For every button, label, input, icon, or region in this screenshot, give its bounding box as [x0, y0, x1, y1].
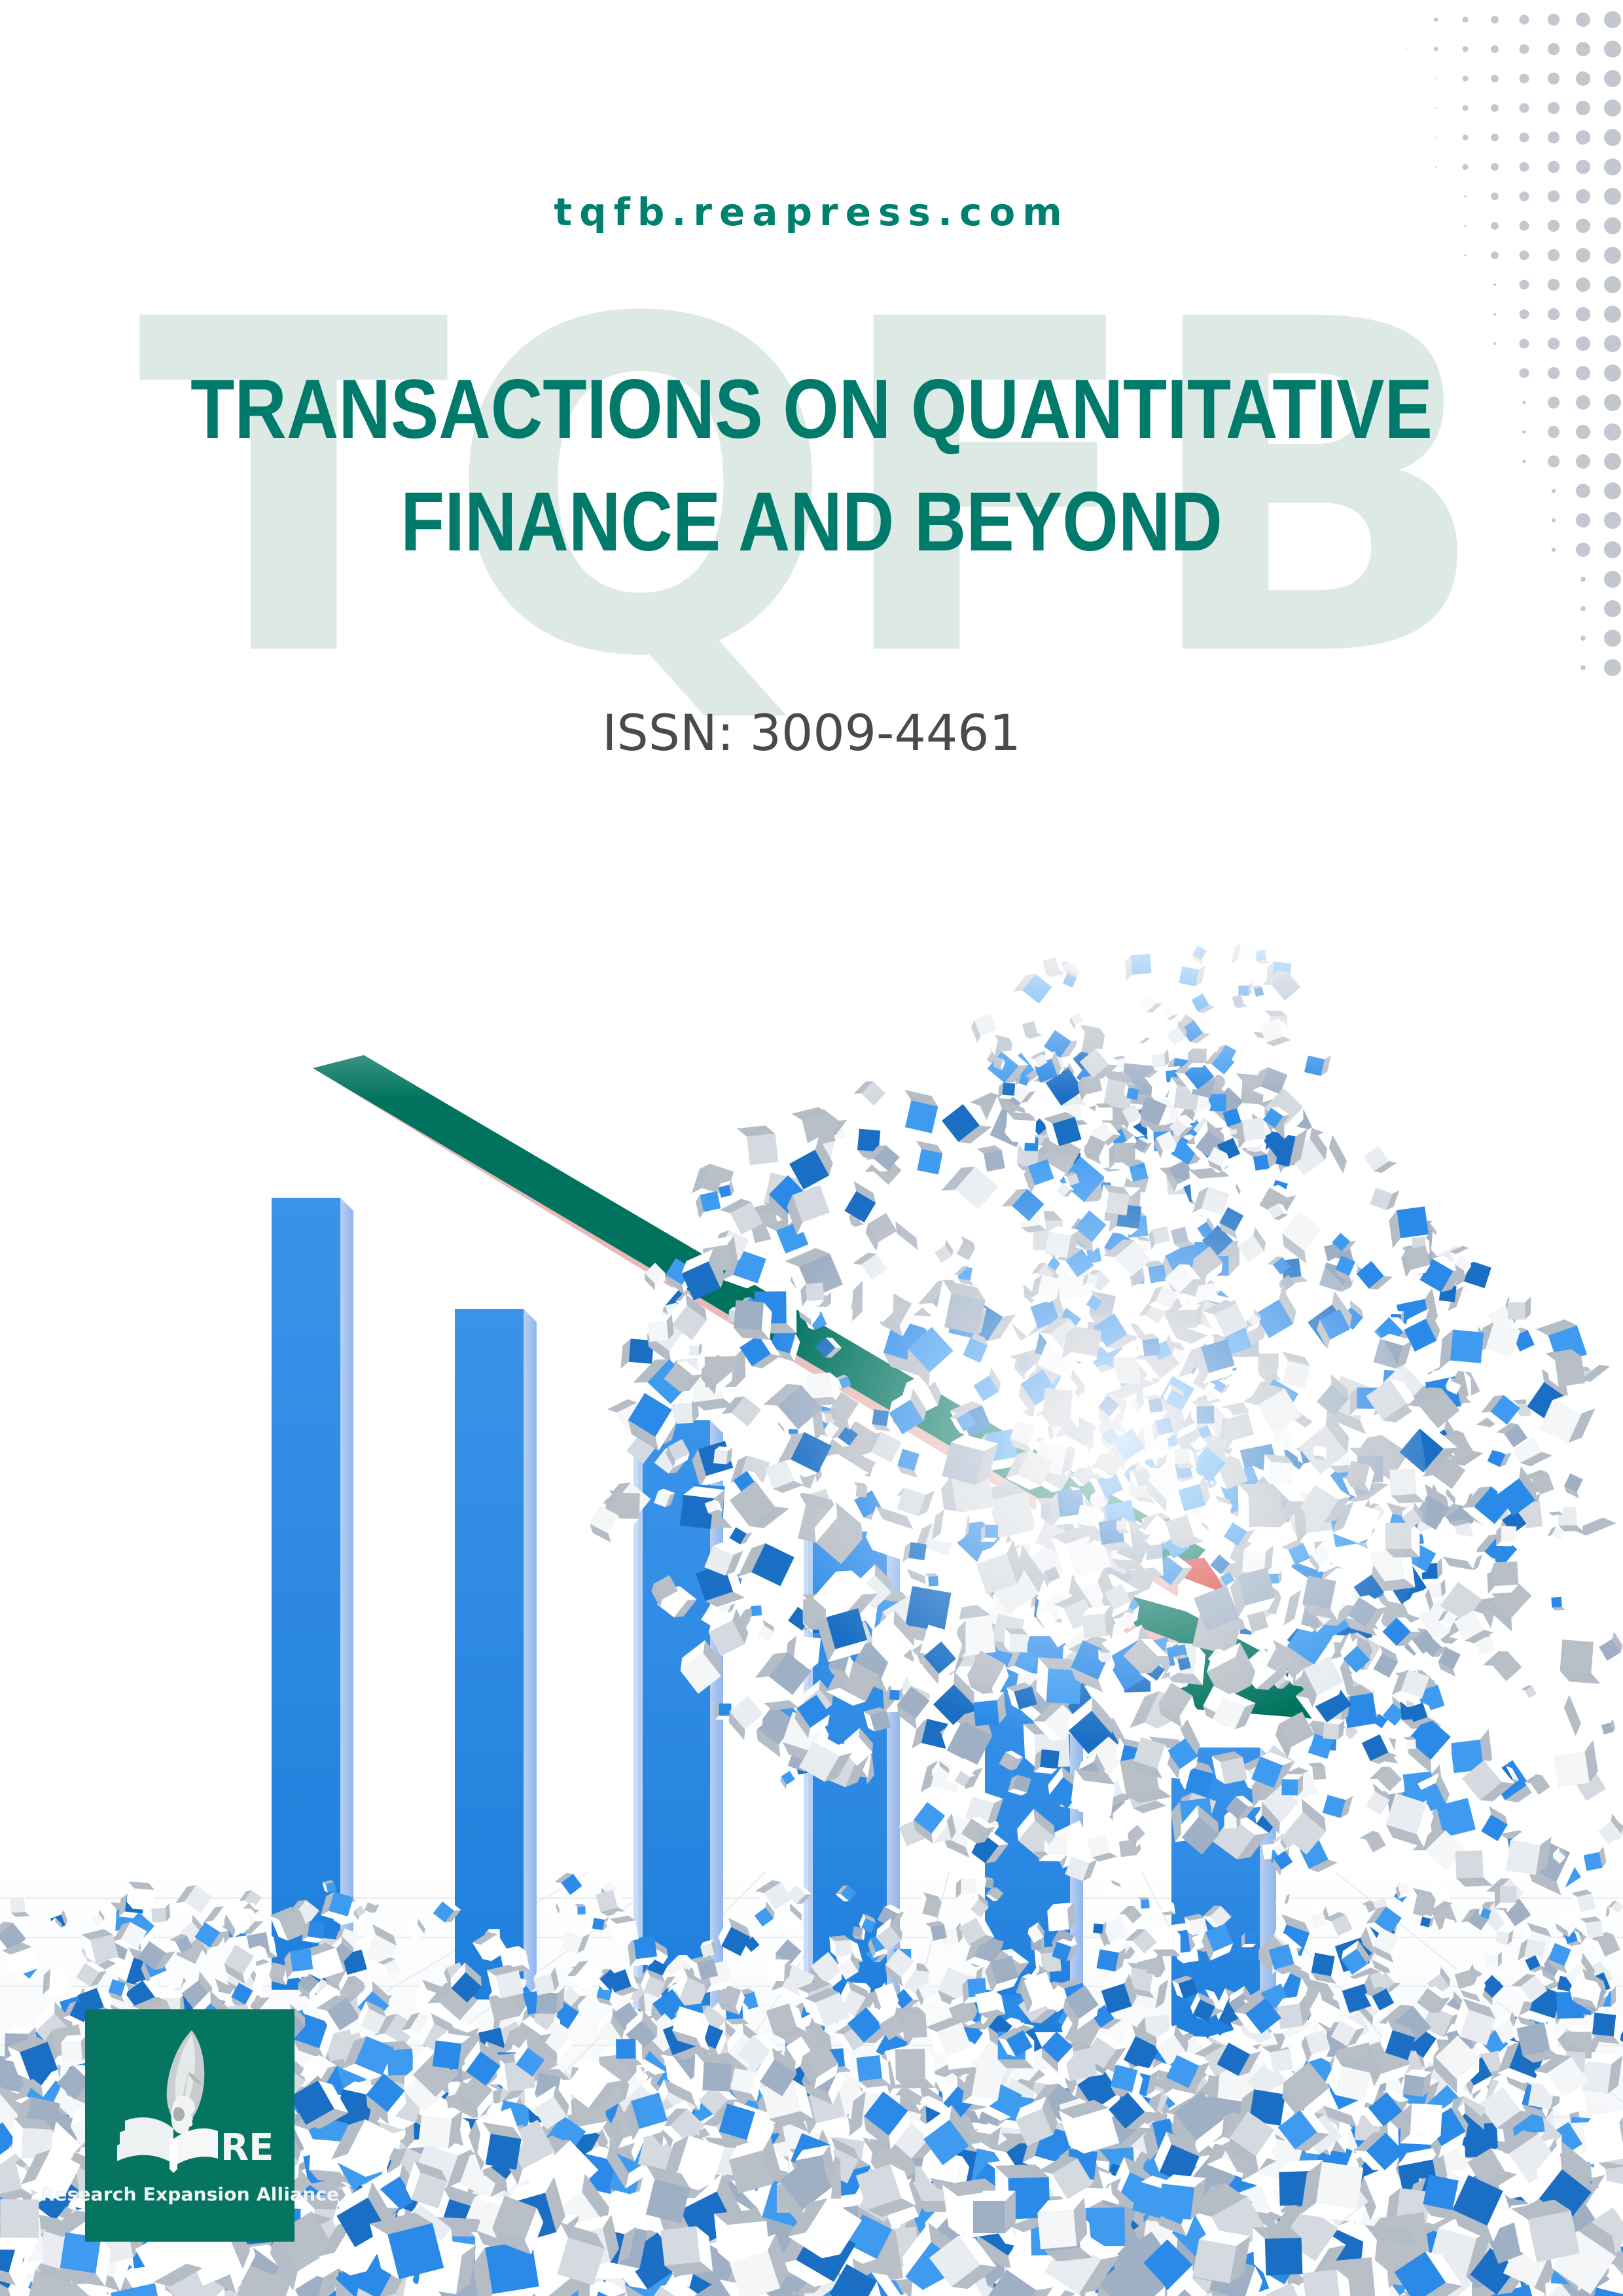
rea-abbreviation-text: REA — [221, 2126, 272, 2169]
rea-logo-mark: REA — [108, 2024, 272, 2181]
publisher-name: Research Expansion Alliance — [41, 2183, 340, 2205]
journal-title: TRANSACTIONS ON QUANTITATIVE FINANCE AND… — [114, 353, 1510, 579]
issn-text: ISSN: 3009-4461 — [0, 704, 1623, 762]
journal-title-line-1: TRANSACTIONS ON QUANTITATIVE — [114, 353, 1510, 466]
publisher-logo[interactable]: REA Research Expansion Alliance — [85, 2009, 294, 2242]
journal-cover: TQFB tqfb.reapress.com TRANSACTIONS ON Q… — [0, 0, 1623, 2296]
journal-title-line-2: FINANCE AND BEYOND — [114, 466, 1510, 579]
site-url[interactable]: tqfb.reapress.com — [0, 190, 1623, 234]
